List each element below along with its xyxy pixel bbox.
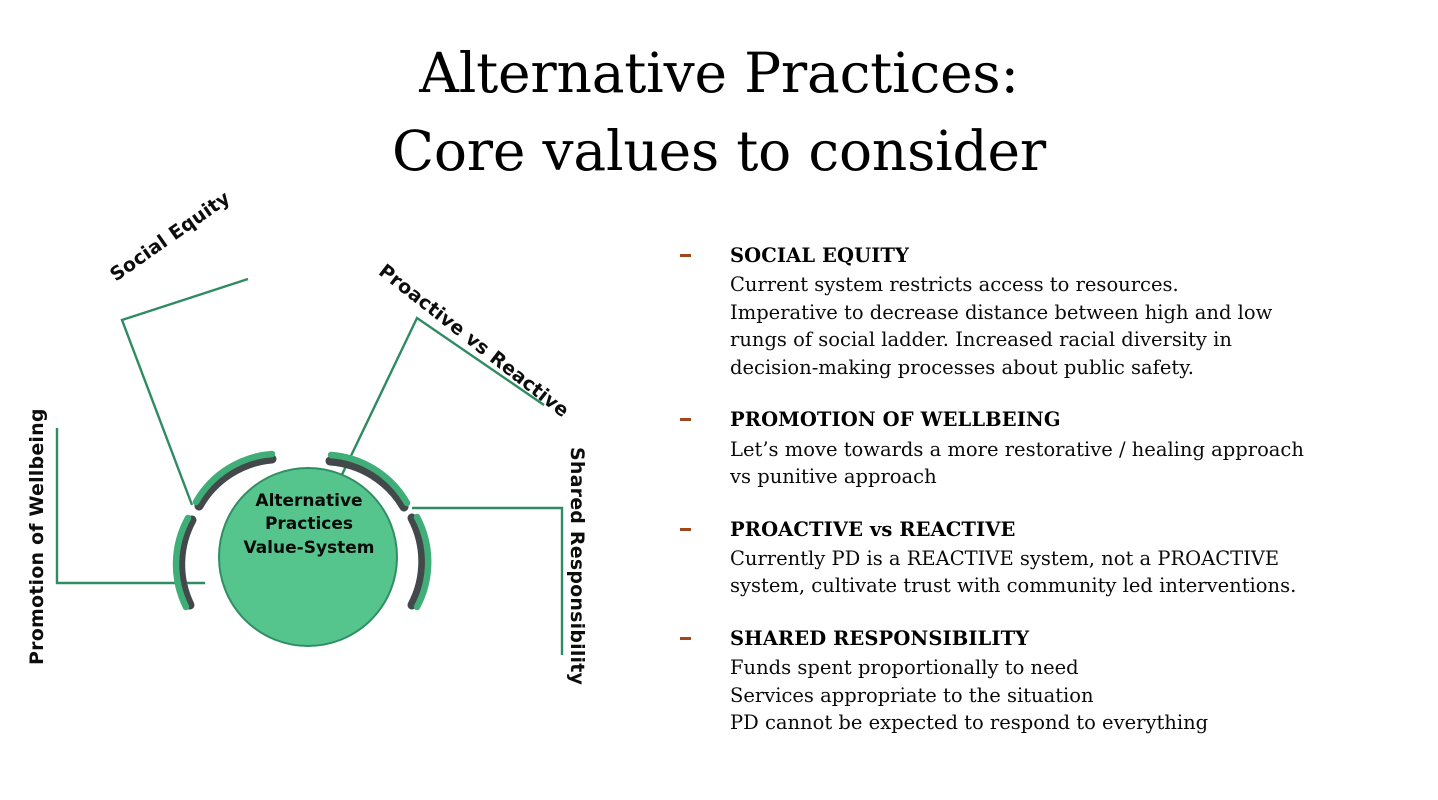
bullet-dash-icon	[680, 418, 691, 421]
diagram-label-promotion-of-wellbeing: Promotion of Wellbeing	[26, 408, 48, 665]
list-item: SHARED RESPONSIBILITY Funds spent propor…	[676, 626, 1416, 737]
value-body: Current system restricts access to resou…	[730, 271, 1416, 381]
page-title: Alternative Practices: Core values to co…	[0, 34, 1438, 190]
bullet-dash-icon	[680, 528, 691, 531]
value-heading: SOCIAL EQUITY	[730, 243, 1416, 269]
value-heading: PROMOTION OF WELLBEING	[730, 407, 1416, 433]
bullet-dash-icon	[680, 637, 691, 640]
value-body: Let’s move towards a more restorative / …	[730, 436, 1416, 491]
diagram-label-shared-responsibility: Shared Responsibility	[566, 447, 588, 685]
center-circle-label: Alternative Practices Value-System	[220, 490, 398, 560]
value-heading: SHARED RESPONSIBILITY	[730, 626, 1416, 652]
value-body: Currently PD is a REACTIVE system, not a…	[730, 545, 1416, 600]
value-body: Funds spent proportionally to need Servi…	[730, 654, 1416, 736]
diagram-graphics	[0, 215, 660, 735]
core-values-list: SOCIAL EQUITY Current system restricts a…	[676, 243, 1416, 737]
connector-shared-responsibility	[412, 508, 562, 655]
value-heading: PROACTIVE vs REACTIVE	[730, 517, 1416, 543]
list-item: PROMOTION OF WELLBEING Let’s move toward…	[676, 407, 1416, 490]
bullet-dash-icon	[680, 254, 691, 257]
value-system-diagram: Social Equity Proactive vs Reactive Prom…	[0, 215, 660, 735]
list-item: PROACTIVE vs REACTIVE Currently PD is a …	[676, 517, 1416, 600]
connector-proactive-vs-reactive	[326, 318, 544, 508]
list-item: SOCIAL EQUITY Current system restricts a…	[676, 243, 1416, 381]
